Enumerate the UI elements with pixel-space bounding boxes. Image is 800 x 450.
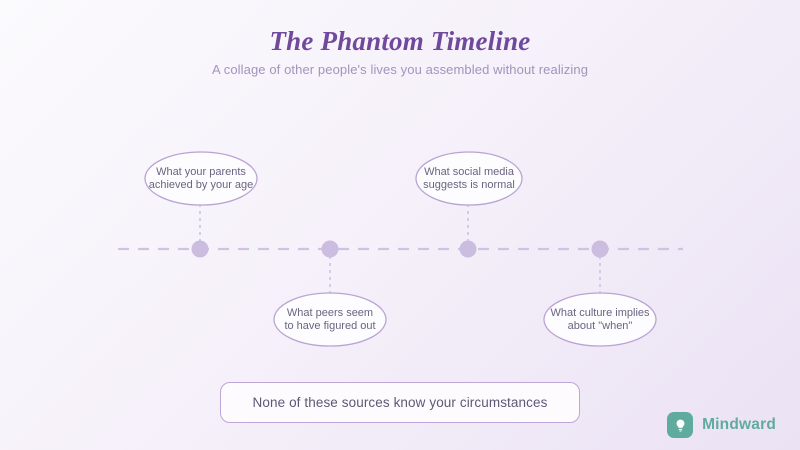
timeline-dot-node-social-media[interactable] <box>460 241 477 258</box>
node-culture-label-line2: about "when" <box>568 320 633 332</box>
brand-logo: Mindward <box>667 412 776 438</box>
callout-box: None of these sources know your circumst… <box>220 382 580 423</box>
node-social-media-label-line2: suggests is normal <box>423 179 515 191</box>
timeline-dot-node-peers[interactable] <box>322 241 339 258</box>
node-social-media-label-line1: What social media <box>424 166 515 178</box>
node-peers-label-line2: to have figured out <box>284 320 375 332</box>
lightbulb-icon <box>667 412 693 438</box>
callout-text: None of these sources know your circumst… <box>253 395 548 410</box>
brand-name: Mindward <box>702 416 776 434</box>
node-peers-label-line1: What peers seem <box>287 307 373 319</box>
canvas: The Phantom Timeline A collage of other … <box>0 0 800 450</box>
timeline-dot-node-parents[interactable] <box>192 241 209 258</box>
timeline-dot-node-culture[interactable] <box>592 241 609 258</box>
node-parents-label-line1: What your parents <box>156 166 246 178</box>
node-parents-label-line2: achieved by your age <box>149 179 254 191</box>
node-culture-label-line1: What culture implies <box>550 307 650 319</box>
